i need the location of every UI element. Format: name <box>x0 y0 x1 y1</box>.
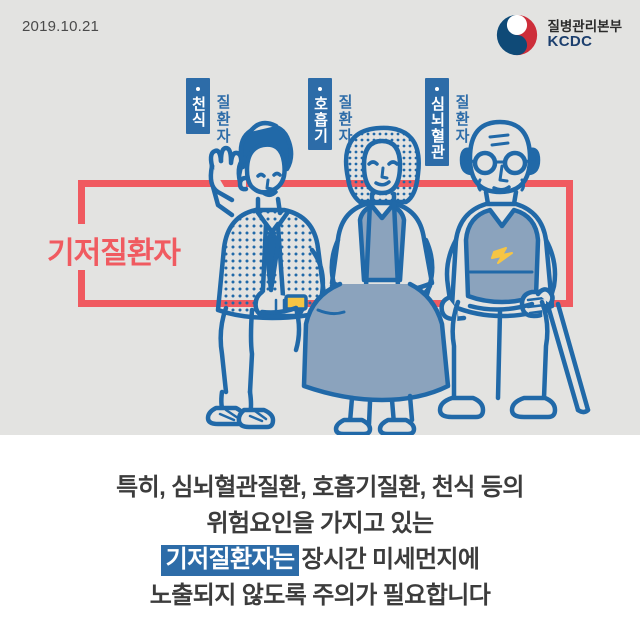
badge-dot-icon <box>435 87 439 91</box>
people-illustration <box>0 0 640 435</box>
badge-cardio-cerebrovascular: 심뇌혈관 질환자 <box>425 78 469 166</box>
caption-line-2: 위험요인을 가지고 있는 <box>0 506 640 542</box>
poster-root: 2019.10.21 질병관리본부 KCDC 기저질환자 <box>0 0 640 640</box>
caption-line-3-rest: 장시간 미세먼지에 <box>301 546 479 573</box>
badge-dot-icon <box>196 87 200 91</box>
caption-highlight: 기저질환자는 <box>161 545 300 576</box>
hero-panel: 2019.10.21 질병관리본부 KCDC 기저질환자 <box>0 0 640 435</box>
figure-woman <box>304 128 448 434</box>
badge-chip: 심뇌혈관 <box>425 78 449 166</box>
caption-line-3: 기저질환자는장시간 미세먼지에 <box>0 542 640 578</box>
badge-side-label: 질환자 <box>215 78 230 145</box>
badge-dot-icon <box>318 87 322 91</box>
badge-respiratory: 호흡기 질환자 <box>308 78 352 150</box>
caption-line-1: 특히, 심뇌혈관질환, 호흡기질환, 천식 등의 <box>0 470 640 506</box>
badge-chip-label: 심뇌혈관 <box>430 96 445 160</box>
badge-asthma: 천식 질환자 <box>186 78 230 145</box>
badge-chip-label: 호흡기 <box>313 96 328 144</box>
caption-line-4: 노출되지 않도록 주의가 필요합니다 <box>0 578 640 614</box>
badge-side-label: 질환자 <box>337 78 352 145</box>
caption-panel: 특히, 심뇌혈관질환, 호흡기질환, 천식 등의 위험요인을 가지고 있는 기저… <box>0 435 640 640</box>
figure-elderly-man <box>440 122 588 417</box>
badge-chip: 호흡기 <box>308 78 332 150</box>
badge-chip: 천식 <box>186 78 210 134</box>
badge-side-label: 질환자 <box>454 78 469 145</box>
badge-chip-label: 천식 <box>191 96 206 128</box>
